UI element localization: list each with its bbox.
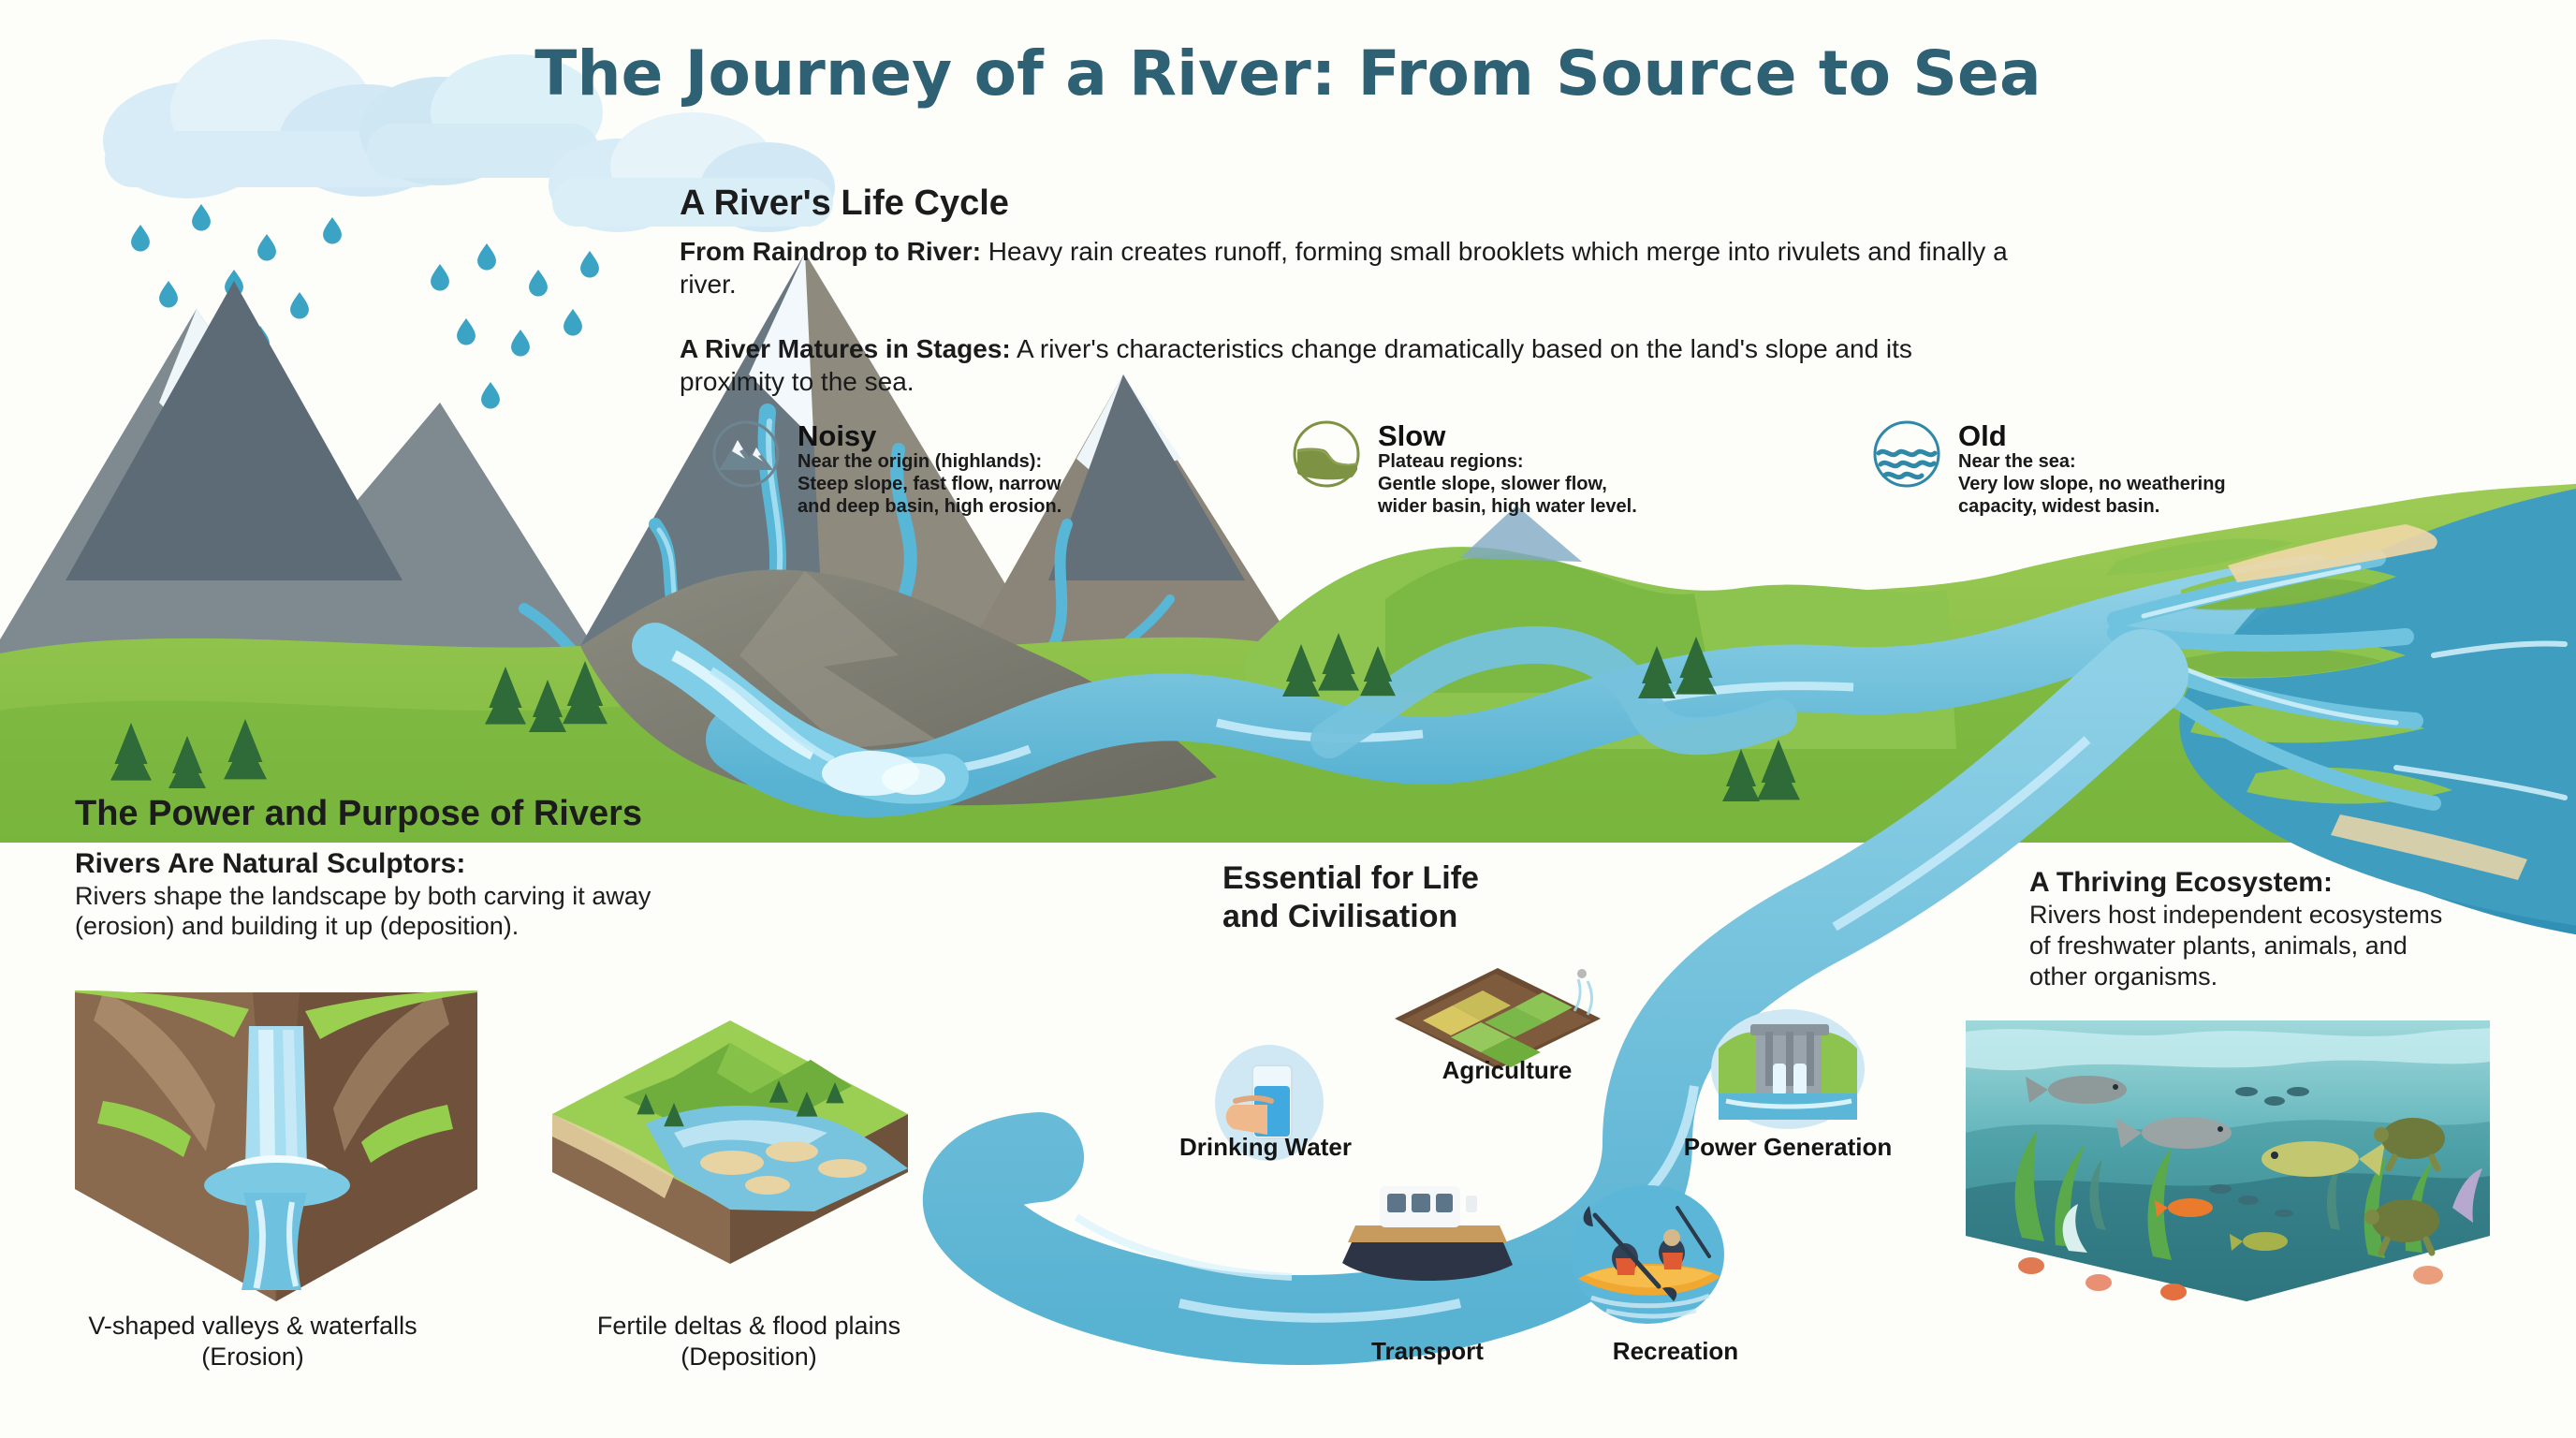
- raindrop-to-river-label: From Raindrop to River:: [680, 237, 981, 266]
- stage-text-noisy: Noisy Near the origin (highlands): Steep…: [798, 419, 1061, 518]
- use-label-power-generation: Power Generation: [1647, 1133, 1928, 1162]
- essential-heading-line1: Essential for Life: [1222, 859, 1653, 898]
- stage-name-old: Old: [1958, 421, 2226, 450]
- power-generation-icon-illustration: [1711, 1009, 1865, 1129]
- ecosystem-heading: A Thriving Ecosystem:: [2029, 866, 2554, 900]
- deposition-panel-illustration: [552, 1020, 908, 1264]
- life-cycle-section: A River's Life Cycle From Raindrop to Ri…: [680, 183, 2009, 398]
- natural-sculptors-text: Rivers shape the landscape by both carvi…: [75, 881, 936, 943]
- agriculture-icon-illustration: [1395, 968, 1601, 1069]
- use-label-transport: Transport: [1310, 1337, 1544, 1366]
- erosion-caption: V-shaped valleys & waterfalls (Erosion): [19, 1311, 487, 1372]
- stage-item-noisy: Noisy Near the origin (highlands): Steep…: [711, 419, 1292, 518]
- waves-icon: [1872, 419, 1941, 489]
- power-purpose-section: The Power and Purpose of Rivers Rivers A…: [75, 794, 936, 942]
- plateau-icon: [1292, 419, 1361, 489]
- erosion-panel-illustration: [75, 990, 477, 1301]
- use-label-agriculture: Agriculture: [1385, 1056, 1629, 1085]
- stage-item-old: Old Near the sea: Very low slope, no wea…: [1872, 419, 2452, 518]
- raindrop-to-river-paragraph: From Raindrop to River: Heavy rain creat…: [680, 235, 2009, 301]
- essential-for-life-section: Essential for Life and Civilisation: [1222, 859, 1653, 936]
- river-stages-row: Noisy Near the origin (highlands): Steep…: [711, 419, 2490, 518]
- page-title: The Journey of a River: From Source to S…: [0, 37, 2576, 110]
- matures-in-stages-paragraph: A River Matures in Stages: A river's cha…: [680, 332, 2009, 398]
- deposition-caption: Fertile deltas & flood plains (Depositio…: [524, 1311, 973, 1372]
- stage-name-slow: Slow: [1378, 421, 1637, 450]
- stage-desc-old: Near the sea: Very low slope, no weather…: [1958, 450, 2226, 518]
- infographic-canvas: The Journey of a River: From Source to S…: [0, 0, 2576, 1438]
- stage-text-slow: Slow Plateau regions: Gentle slope, slow…: [1378, 419, 1637, 518]
- life-cycle-heading: A River's Life Cycle: [680, 183, 2009, 224]
- ecosystem-section: A Thriving Ecosystem: Rivers host indepe…: [2029, 866, 2554, 992]
- stage-text-old: Old Near the sea: Very low slope, no wea…: [1958, 419, 2226, 518]
- essential-heading-line2: and Civilisation: [1222, 898, 1653, 936]
- mountain-icon: [711, 419, 781, 489]
- ecosystem-text: Rivers host independent ecosystems of fr…: [2029, 900, 2554, 992]
- transport-boat-illustration: [1342, 1186, 1513, 1281]
- matures-in-stages-label: A River Matures in Stages:: [680, 334, 1011, 363]
- stage-name-noisy: Noisy: [798, 421, 1061, 450]
- use-label-drinking-water: Drinking Water: [1144, 1133, 1387, 1162]
- stage-item-slow: Slow Plateau regions: Gentle slope, slow…: [1292, 419, 1872, 518]
- ecosystem-panel-illustration: [1966, 1020, 2490, 1301]
- recreation-icon-illustration: [1571, 1185, 1724, 1324]
- stage-desc-noisy: Near the origin (highlands): Steep slope…: [798, 450, 1061, 518]
- stage-desc-slow: Plateau regions: Gentle slope, slower fl…: [1378, 450, 1637, 518]
- power-purpose-heading: The Power and Purpose of Rivers: [75, 794, 936, 834]
- use-label-recreation: Recreation: [1554, 1337, 1797, 1366]
- natural-sculptors-label: Rivers Are Natural Sculptors:: [75, 847, 936, 881]
